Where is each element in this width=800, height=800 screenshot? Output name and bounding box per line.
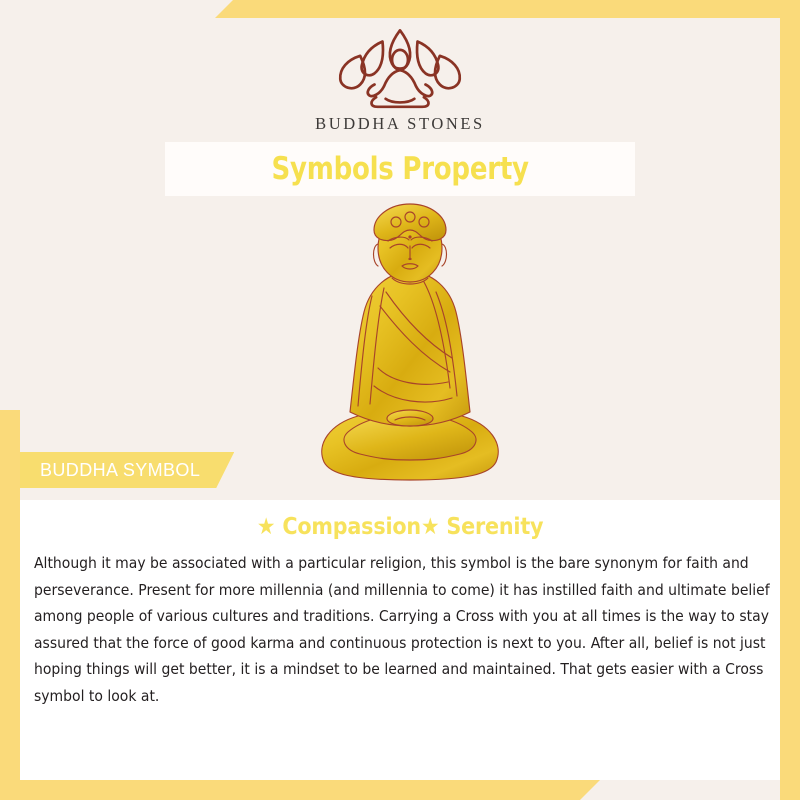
lotus-meditation-icon [320,24,480,110]
page-title-bar: Symbols Property [165,142,635,196]
golden-seated-buddha-icon [300,200,520,490]
decorative-band-top [215,0,800,18]
buddha-hero-image [300,200,520,490]
page-root: BUDDHA STONES Symbols Property [0,0,800,800]
content-subtitle-inner: ★ Compassion★ Serenity [257,514,543,540]
content-card: ★ Compassion★ Serenity Although it may b… [20,500,780,780]
brand-header: BUDDHA STONES [0,24,800,134]
content-body-text: Although it may be associated with a par… [34,550,775,710]
decorative-band-left [0,410,20,780]
brand-name: BUDDHA STONES [0,114,800,134]
category-ribbon: BUDDHA SYMBOL [20,452,234,488]
decorative-band-right [780,18,800,800]
category-ribbon-label: BUDDHA SYMBOL [40,460,200,481]
decorative-band-bottom [0,780,600,800]
page-title: Symbols Property [271,151,528,187]
content-subtitle: ★ Compassion★ Serenity [20,514,780,540]
